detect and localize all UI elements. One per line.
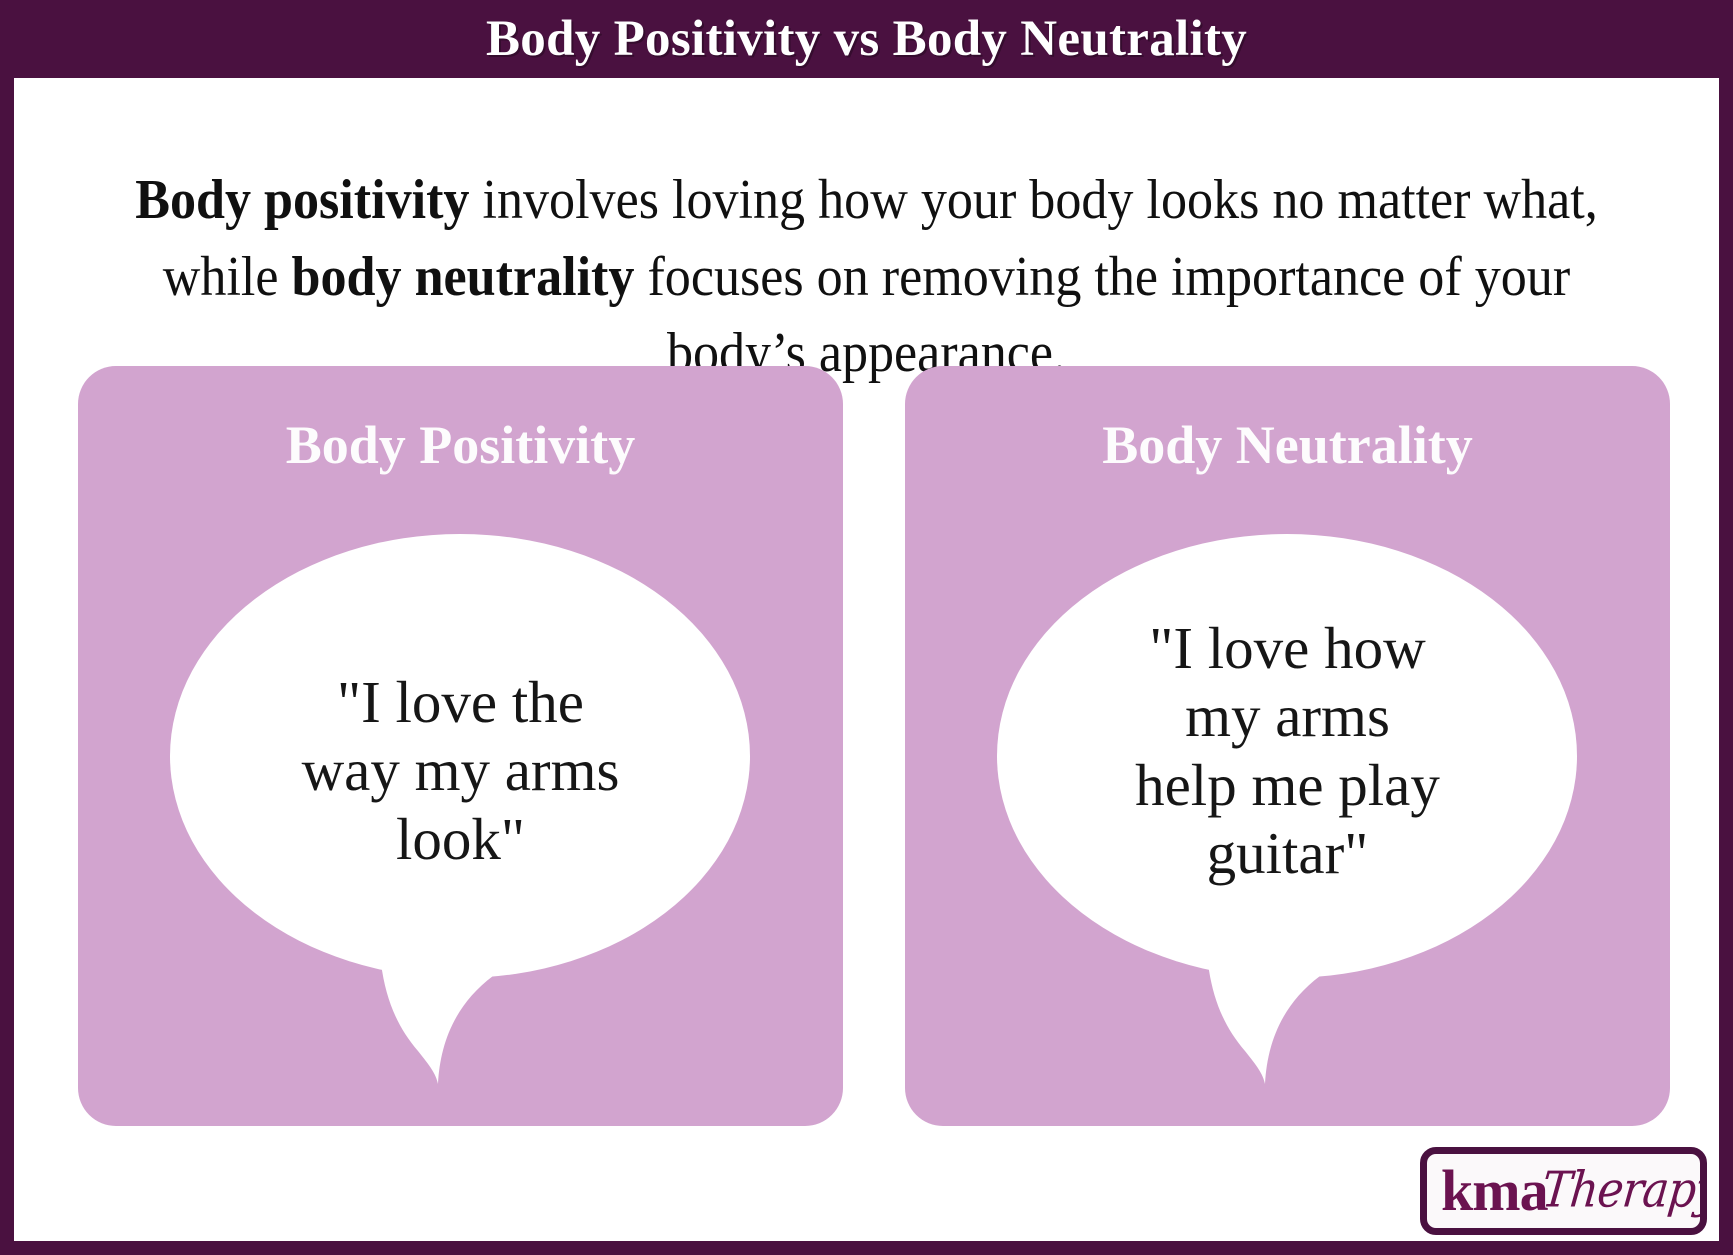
card-body-positivity: Body Positivity "I love the way my arms … — [78, 366, 843, 1126]
infographic-body: Body Positivity vs Body Neutrality Body … — [14, 14, 1719, 1241]
card-heading-body-positivity: Body Positivity — [78, 418, 843, 472]
intro-paragraph: Body positivity involves loving how your… — [115, 162, 1619, 392]
page-title: Body Positivity vs Body Neutrality — [486, 14, 1247, 65]
intro-text-part-4: focuses on removing the importance of yo… — [634, 246, 1570, 385]
logo-secondary-text: Therapy — [1539, 1169, 1707, 1213]
title-banner: Body Positivity vs Body Neutrality — [0, 0, 1733, 78]
kma-therapy-logo: kma Therapy — [1420, 1147, 1707, 1235]
speech-bubble-body-neutrality: "I love how my arms help me play guitar" — [905, 506, 1670, 1126]
intro-bold-body-neutrality: body neutrality — [292, 246, 635, 308]
infographic-root: Body Positivity vs Body Neutrality Body … — [0, 0, 1733, 1255]
logo-primary-text: kma — [1441, 1165, 1548, 1217]
speech-bubble-body-positivity: "I love the way my arms look" — [78, 506, 843, 1126]
card-body-neutrality: Body Neutrality "I love how my arms help… — [905, 366, 1670, 1126]
quote-body-positivity: "I love the way my arms look" — [221, 668, 701, 873]
quote-body-neutrality: "I love how my arms help me play guitar" — [1048, 614, 1528, 888]
intro-bold-body-positivity: Body positivity — [135, 169, 469, 231]
card-heading-body-neutrality: Body Neutrality — [905, 418, 1670, 472]
comparison-cards: Body Positivity "I love the way my arms … — [78, 366, 1670, 1126]
